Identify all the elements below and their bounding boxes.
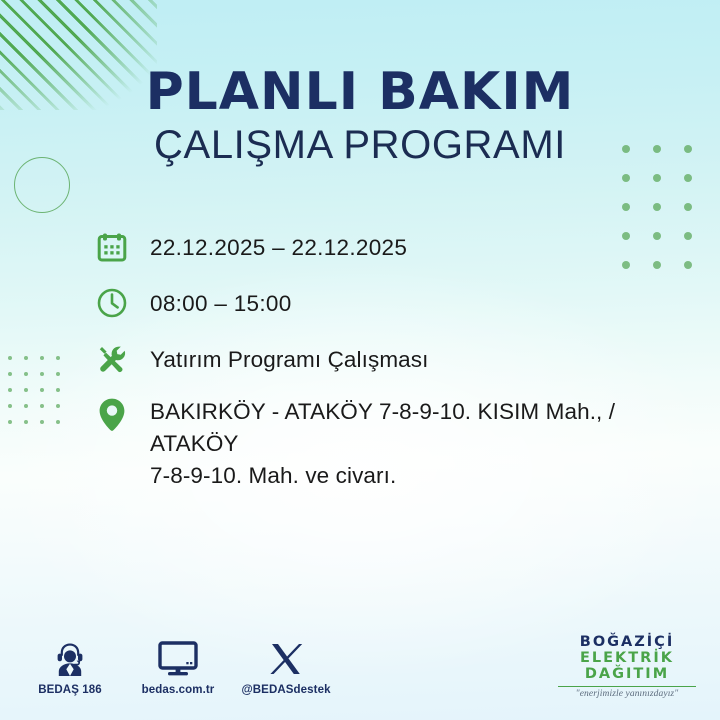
decor-dot bbox=[40, 404, 44, 408]
decor-dot bbox=[40, 356, 44, 360]
detail-date-range: 22.12.2025 – 22.12.2025 bbox=[138, 226, 407, 264]
decor-dot bbox=[8, 404, 12, 408]
contact-website-label: bedas.com.tr bbox=[142, 684, 215, 696]
x-twitter-icon bbox=[268, 638, 304, 678]
contact-phone-label: BEDAŞ 186 bbox=[38, 684, 102, 696]
decor-dot bbox=[684, 203, 692, 211]
calendar-icon bbox=[96, 226, 138, 268]
decor-dot bbox=[8, 420, 12, 424]
brand-divider bbox=[558, 686, 696, 687]
detail-row-location: BAKIRKÖY - ATAKÖY 7-8-9-10. KISIM Mah., … bbox=[96, 394, 706, 492]
detail-work-type: Yatırım Programı Çalışması bbox=[138, 338, 429, 376]
decor-dot bbox=[24, 356, 28, 360]
dot-grid-left bbox=[8, 356, 72, 436]
tools-icon bbox=[96, 338, 138, 380]
decor-dot bbox=[40, 388, 44, 392]
page-title: PLANLI BAKIM bbox=[0, 66, 720, 119]
decor-dot bbox=[56, 372, 60, 376]
brand-line-2: ELEKTRİK bbox=[552, 650, 702, 666]
decor-dot bbox=[622, 203, 630, 211]
call-center-agent-icon bbox=[52, 638, 88, 678]
contact-x-twitter[interactable]: @BEDASdestek bbox=[246, 638, 326, 696]
decor-dot bbox=[40, 420, 44, 424]
decor-dot bbox=[8, 356, 12, 360]
decor-dot bbox=[653, 174, 661, 182]
contact-phone[interactable]: BEDAŞ 186 bbox=[30, 638, 110, 696]
decor-dot bbox=[24, 388, 28, 392]
page-subtitle: ÇALIŞMA PROGRAMI bbox=[0, 123, 720, 168]
decor-dot bbox=[40, 372, 44, 376]
detail-row-date: 22.12.2025 – 22.12.2025 bbox=[96, 226, 706, 268]
detail-location-line2: 7-8-9-10. Mah. ve civarı. bbox=[150, 460, 706, 492]
brand-line-3: DAĞITIM bbox=[552, 666, 702, 682]
decor-dot bbox=[24, 372, 28, 376]
decor-dot bbox=[56, 356, 60, 360]
decor-dot bbox=[622, 174, 630, 182]
decor-dot bbox=[24, 420, 28, 424]
detail-location-line1: BAKIRKÖY - ATAKÖY 7-8-9-10. KISIM Mah., … bbox=[150, 396, 706, 460]
decor-dot bbox=[24, 404, 28, 408]
decor-dot bbox=[684, 174, 692, 182]
map-pin-icon bbox=[96, 394, 138, 436]
detail-row-work-type: Yatırım Programı Çalışması bbox=[96, 338, 706, 380]
decor-dot bbox=[56, 388, 60, 392]
contact-x-label: @BEDASdestek bbox=[241, 684, 330, 696]
clock-icon bbox=[96, 282, 138, 324]
brand-line-1: BOĞAZİÇİ bbox=[552, 634, 702, 650]
decor-dot bbox=[8, 372, 12, 376]
detail-row-time: 08:00 – 15:00 bbox=[96, 282, 706, 324]
monitor-icon bbox=[157, 638, 199, 678]
maintenance-details: 22.12.2025 – 22.12.2025 08:00 – 15:00 bbox=[96, 226, 706, 506]
brand-tagline: "enerjimizle yanınızdayız" bbox=[552, 689, 702, 699]
planned-maintenance-poster: PLANLI BAKIM ÇALIŞMA PROGRAMI 22.12.2025… bbox=[0, 0, 720, 720]
detail-location: BAKIRKÖY - ATAKÖY 7-8-9-10. KISIM Mah., … bbox=[138, 394, 706, 492]
decor-dot bbox=[56, 420, 60, 424]
decor-dot bbox=[653, 203, 661, 211]
decor-dot bbox=[8, 388, 12, 392]
decor-dot bbox=[56, 404, 60, 408]
detail-time-range: 08:00 – 15:00 bbox=[138, 282, 292, 320]
brand-logo: BOĞAZİÇİ ELEKTRİK DAĞITIM "enerjimizle y… bbox=[552, 634, 702, 699]
contact-website[interactable]: bedas.com.tr bbox=[138, 638, 218, 696]
poster-title-block: PLANLI BAKIM ÇALIŞMA PROGRAMI bbox=[0, 66, 720, 168]
footer-contacts: BEDAŞ 186 bedas.com.tr @B bbox=[30, 638, 326, 696]
